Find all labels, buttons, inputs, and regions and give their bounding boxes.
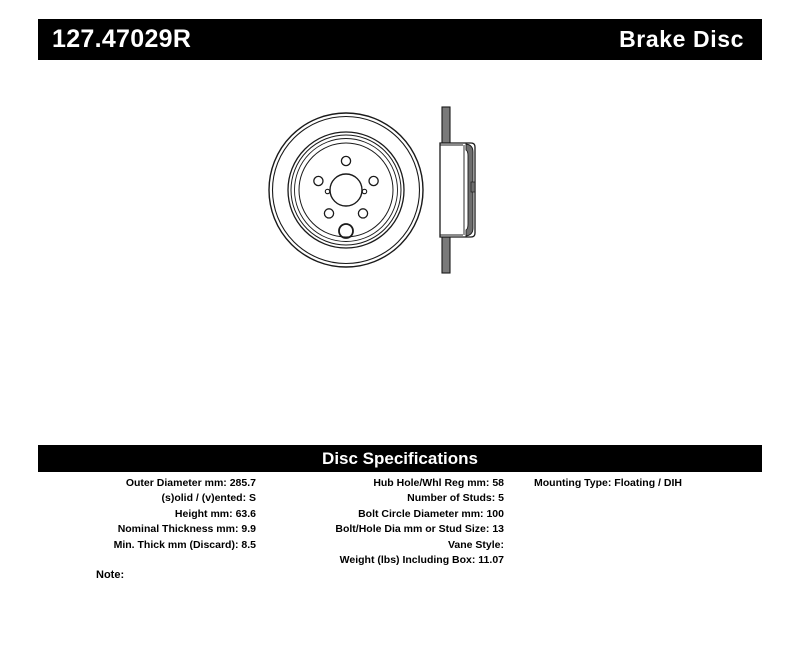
stud-hole-icon xyxy=(358,209,367,218)
spec-label: Bolt/Hole Dia mm or Stud Size: xyxy=(335,523,492,535)
spec-row: Number of Studs: 5 xyxy=(407,491,504,506)
spec-row: Mounting Type: Floating / DIH xyxy=(534,476,682,491)
spec-label: Mounting Type: xyxy=(534,477,614,489)
spec-row: Vane Style: xyxy=(448,538,504,553)
spec-row: Bolt Circle Diameter mm: 100 xyxy=(358,507,504,522)
stud-hole-icon xyxy=(341,156,350,165)
spec-value: 285.7 xyxy=(230,477,256,489)
stud-hole-icon xyxy=(324,209,333,218)
spec-value: 58 xyxy=(492,477,504,489)
spec-value: Floating / DIH xyxy=(614,477,682,489)
spec-value: S xyxy=(249,492,256,504)
part-number-label: 127.47029R xyxy=(38,27,191,52)
hat-flange-top xyxy=(442,107,450,143)
section-step-detail xyxy=(471,182,475,192)
spec-row: Height mm: 63.6 xyxy=(175,507,256,522)
spec-row: (s)olid / (v)ented: S xyxy=(161,491,256,506)
spec-label: Height mm: xyxy=(175,508,236,520)
spec-label: (s)olid / (v)ented: xyxy=(161,492,249,504)
spec-value: 9.9 xyxy=(241,523,256,535)
disc-specifications-title: Disc Specifications xyxy=(322,450,478,467)
spec-label: Number of Studs: xyxy=(407,492,498,504)
stud-hole-icon xyxy=(369,176,378,185)
note-label: Note: xyxy=(96,570,124,581)
brake-disc-cross-section-view xyxy=(440,107,475,273)
spec-value: 63.6 xyxy=(236,508,256,520)
brake-disc-technical-drawing xyxy=(268,100,498,300)
brake-disc-face-view xyxy=(269,113,423,267)
spec-value: 5 xyxy=(498,492,504,504)
spec-value: 8.5 xyxy=(241,539,256,551)
spec-value: 13 xyxy=(492,523,504,535)
spec-row: Nominal Thickness mm: 9.9 xyxy=(118,522,256,537)
pilot-hole-icon xyxy=(339,224,353,238)
disc-specifications-bar: Disc Specifications xyxy=(38,445,762,472)
locating-hole-icon xyxy=(362,189,366,193)
spec-value: 11.07 xyxy=(478,554,504,566)
spec-row: Outer Diameter mm: 285.7 xyxy=(126,476,256,491)
spec-row: Hub Hole/Whl Reg mm: 58 xyxy=(373,476,504,491)
locating-hole-icon xyxy=(325,189,329,193)
specifications-table: Outer Diameter mm: 285.7 (s)olid / (v)en… xyxy=(38,476,762,568)
spec-label: Weight (lbs) Including Box: xyxy=(340,554,479,566)
spec-label: Nominal Thickness mm: xyxy=(118,523,242,535)
spec-column-middle: Hub Hole/Whl Reg mm: 58 Number of Studs:… xyxy=(270,476,510,568)
spec-column-left: Outer Diameter mm: 285.7 (s)olid / (v)en… xyxy=(38,476,270,553)
spec-label: Hub Hole/Whl Reg mm: xyxy=(373,477,492,489)
spec-label: Min. Thick mm (Discard): xyxy=(114,539,242,551)
spec-label: Bolt Circle Diameter mm: xyxy=(358,508,486,520)
product-type-label: Brake Disc xyxy=(619,28,762,51)
stud-hole-group xyxy=(314,156,378,218)
product-title-bar: 127.47029R Brake Disc xyxy=(38,19,762,60)
hub-hole-icon xyxy=(330,174,362,206)
spec-label: Vane Style: xyxy=(448,539,504,551)
spec-row: Weight (lbs) Including Box: 11.07 xyxy=(340,553,504,568)
locating-hole-group xyxy=(325,189,366,193)
hat-flange-bottom xyxy=(442,237,450,273)
spec-column-right: Mounting Type: Floating / DIH xyxy=(510,476,762,491)
product-drawing-area xyxy=(38,70,762,430)
spec-label: Outer Diameter mm: xyxy=(126,477,230,489)
spec-row: Bolt/Hole Dia mm or Stud Size: 13 xyxy=(335,522,504,537)
spec-row: Min. Thick mm (Discard): 8.5 xyxy=(114,538,256,553)
stud-hole-icon xyxy=(314,176,323,185)
spec-value: 100 xyxy=(486,508,504,520)
